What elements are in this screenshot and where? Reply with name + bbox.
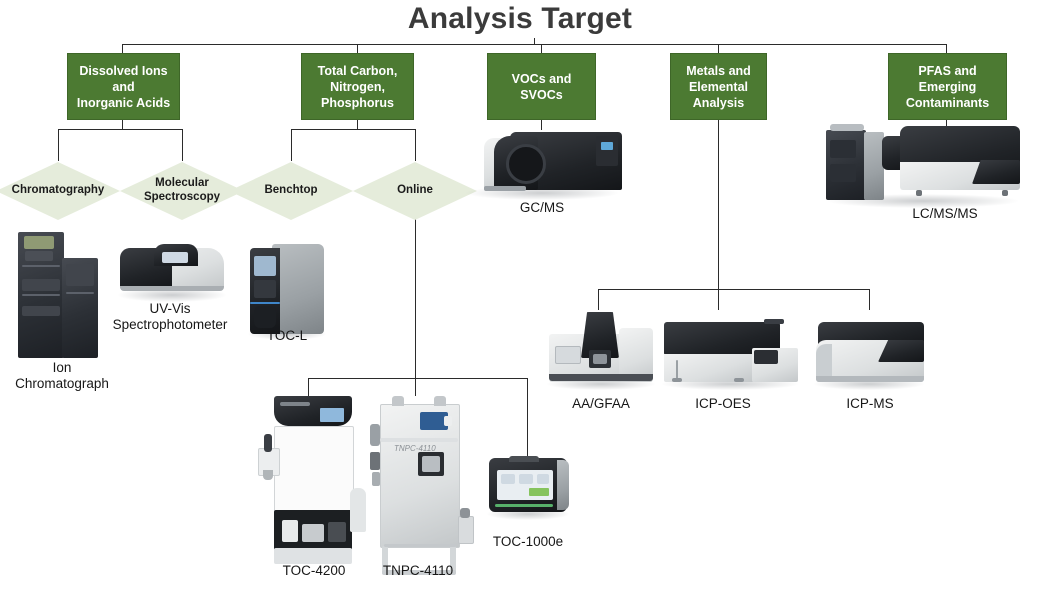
diagram-canvas: Analysis Target Dissolved Ions and Inorg…: [0, 0, 1040, 606]
instrument-caption-toc-4200: TOC-4200: [258, 563, 370, 579]
category-box-total-cnp[interactable]: Total Carbon, Nitrogen, Phosphorus: [301, 53, 414, 120]
method-label-online: Online: [397, 184, 433, 198]
instrument-image-gc-ms: [462, 130, 622, 196]
instrument-image-toc-l: [248, 240, 326, 338]
instrument-image-toc-1000e: [485, 456, 571, 518]
connector-total-cnp-bus: [291, 129, 415, 130]
device-badge-tnpc-4110: TNPC-4110: [394, 444, 436, 453]
category-box-dissolved-ions[interactable]: Dissolved Ions and Inorganic Acids: [67, 53, 180, 120]
connector-to-benchtop: [291, 129, 292, 161]
instrument-caption-ion-chromatograph: Ion Chromatograph: [0, 360, 124, 392]
instrument-image-ion-chromatograph: [18, 232, 100, 358]
method-diamond-benchtop[interactable]: Benchtop: [229, 162, 353, 220]
instrument-image-lc-ms-ms: [822, 120, 1022, 206]
category-label-dissolved-ions: Dissolved Ions and Inorganic Acids: [77, 63, 170, 111]
connector-to-online: [415, 129, 416, 161]
connector-to-chromatography: [58, 129, 59, 161]
connector-to-icp-ms: [869, 289, 870, 310]
category-label-pfas: PFAS and Emerging Contaminants: [906, 63, 989, 111]
connector-metals-bus: [598, 289, 869, 290]
instrument-image-icp-oes: [660, 318, 800, 388]
method-label-chromatography: Chromatography: [12, 184, 105, 198]
connector-total-cnp-stem: [357, 120, 358, 129]
instrument-image-tnpc-4110: TNPC-4110: [368, 396, 470, 576]
category-label-total-cnp: Total Carbon, Nitrogen, Phosphorus: [318, 63, 398, 111]
connector-metals-stem: [718, 120, 719, 289]
connector-to-toc-4200: [308, 378, 309, 396]
method-diamond-chromatography[interactable]: Chromatography: [0, 162, 120, 220]
connector-to-molecular-spectroscopy: [182, 129, 183, 161]
instrument-caption-toc-l: TOC-L: [232, 328, 342, 344]
instrument-caption-icp-ms: ICP-MS: [818, 396, 922, 412]
instrument-image-uv-vis: [116, 238, 228, 300]
instrument-caption-gc-ms: GC/MS: [482, 200, 602, 216]
connector-vocs-to-gcms: [541, 120, 542, 130]
category-box-pfas[interactable]: PFAS and Emerging Contaminants: [888, 53, 1007, 120]
method-diamond-online[interactable]: Online: [353, 162, 477, 220]
page-title: Analysis Target: [0, 2, 1040, 36]
connector-to-icp-oes: [718, 289, 719, 310]
connector-level1-bus: [122, 44, 947, 45]
instrument-caption-icp-oes: ICP-OES: [668, 396, 778, 412]
instrument-caption-tnpc-4110: TNPC-4110: [360, 563, 476, 579]
connector-dissolved-ions-bus: [58, 129, 182, 130]
category-label-metals: Metals and Elemental Analysis: [686, 63, 751, 111]
connector-online-stem: [415, 219, 416, 378]
connector-to-toc-1000e: [527, 378, 528, 456]
category-box-metals[interactable]: Metals and Elemental Analysis: [670, 53, 767, 120]
instrument-image-icp-ms: [812, 320, 926, 386]
connector-online-bus: [308, 378, 527, 379]
instrument-image-toc-4200: [258, 396, 366, 566]
connector-dissolved-ions-stem: [122, 120, 123, 129]
instrument-caption-toc-1000e: TOC-1000e: [476, 534, 580, 550]
connector-to-aa-gfaa: [598, 289, 599, 310]
connector-to-tnpc-4110: [415, 378, 416, 396]
instrument-image-aa-gfaa: [545, 310, 657, 388]
method-label-molecular-spectroscopy: Molecular Spectroscopy: [144, 177, 220, 205]
category-label-vocs-svocs: VOCs and SVOCs: [512, 71, 572, 103]
instrument-caption-lc-ms-ms: LC/MS/MS: [880, 206, 1010, 222]
method-label-benchtop: Benchtop: [264, 184, 317, 198]
category-box-vocs-svocs[interactable]: VOCs and SVOCs: [487, 53, 596, 120]
instrument-caption-uv-vis: UV-Vis Spectrophotometer: [100, 301, 240, 333]
instrument-caption-aa-gfaa: AA/GFAA: [546, 396, 656, 412]
method-diamond-molecular-spectroscopy[interactable]: Molecular Spectroscopy: [120, 162, 244, 220]
